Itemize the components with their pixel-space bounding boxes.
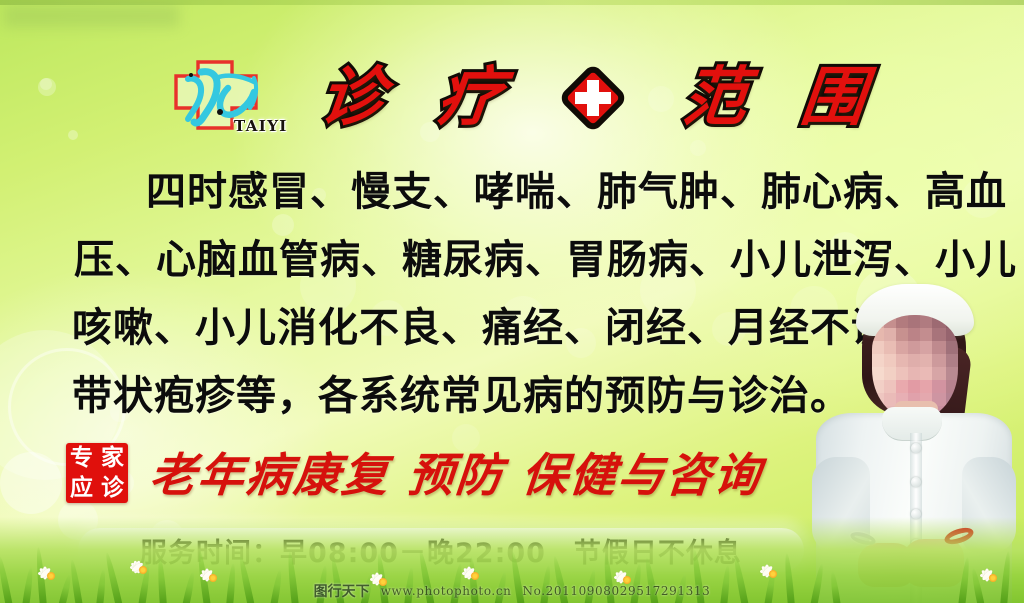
title-char-2: 疗 [435,66,506,130]
seal-char-4: 诊 [97,473,128,503]
seal-char-2: 家 [97,443,128,473]
page-title: 诊 疗 范 围 [320,52,865,144]
title-char-4: 围 [798,66,869,130]
watermark-image-number: No.20110908029517291313 [523,584,711,598]
services-tagline: 老年病康复 预防 保健与咨询 [147,440,833,504]
body-line-1: 四时感冒、慢支、哮喘、肺气肿、肺心病、高血 [58,158,968,226]
dot-lower [217,109,223,115]
taiyi-clinic-logo: TAIYI [168,56,298,142]
stock-watermark: 图行天下 www.photophoto.cn No.20110908029517… [0,581,1024,601]
top-blur-artifact [4,5,179,27]
seal-char-1: 专 [66,443,97,473]
nurse-button [911,477,921,487]
dot-upper [189,73,193,77]
title-char-3: 范 [679,66,750,130]
logo-wordmark: TAIYI [234,117,288,135]
watermark-url: www.photophoto.cn [381,584,512,598]
seal-char-3: 应 [66,473,97,503]
nurse-button [911,443,921,453]
poster-canvas: TAIYI 诊 疗 范 围 四时感冒、慢支、哮喘、肺气肿、肺心病、高血 压、心脑… [0,0,1024,603]
expert-seal-badge: 专 家 应 诊 [66,443,128,503]
medical-cross-diamond-icon [557,62,629,134]
watermark-site-name: 图行天下 [314,581,370,601]
title-char-1: 诊 [317,66,388,130]
